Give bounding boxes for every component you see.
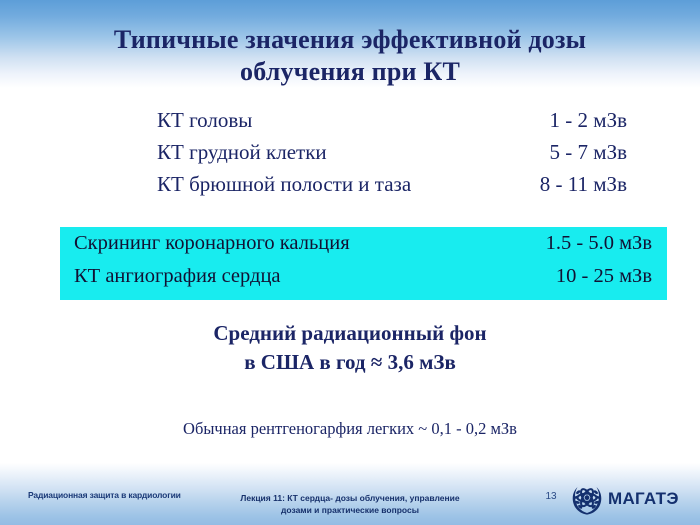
dose-value: 1 - 2 мЗв <box>550 108 627 133</box>
table-row: Скрининг коронарного кальция 1.5 - 5.0 м… <box>74 232 652 265</box>
emphasis-line-2: в США в год ≈ 3,6 мЗв <box>0 348 700 377</box>
iaea-atom-laurel-icon <box>570 482 604 516</box>
dose-list: КТ головы 1 - 2 мЗв КТ грудной клетки 5 … <box>157 108 627 204</box>
dose-label: КТ ангиография сердца <box>74 265 281 288</box>
page-number: 13 <box>540 491 562 502</box>
slide-canvas: Типичные значения эффективной дозы облуч… <box>0 0 700 525</box>
iaea-logo: МАГАТЭ <box>570 481 690 517</box>
dose-row: КТ грудной клетки 5 - 7 мЗв <box>157 140 627 172</box>
dose-label: КТ грудной клетки <box>157 140 327 165</box>
footer-course-label: Радиационная защита в кардиологии <box>28 490 181 500</box>
dose-value: 10 - 25 мЗв <box>556 265 652 288</box>
dose-label: КТ брюшной полости и таза <box>157 172 411 197</box>
dose-value: 5 - 7 мЗв <box>550 140 627 165</box>
dose-value: 1.5 - 5.0 мЗв <box>546 232 652 255</box>
dose-row: КТ брюшной полости и таза 8 - 11 мЗв <box>157 172 627 204</box>
dose-row: КТ головы 1 - 2 мЗв <box>157 108 627 140</box>
footnote-text: Обычная рентгеногарфия легких ~ 0,1 - 0,… <box>0 419 700 439</box>
dose-label: КТ головы <box>157 108 252 133</box>
slide-title-line-2: облучения при КТ <box>0 56 700 88</box>
highlight-dose-list: Скрининг коронарного кальция 1.5 - 5.0 м… <box>74 232 652 298</box>
slide-title-line-1: Типичные значения эффективной дозы <box>0 24 700 56</box>
footer-lecture-line-2: дозами и практические вопросы <box>281 505 419 515</box>
emphasis-line-1: Средний радиационный фон <box>0 319 700 348</box>
table-row: КТ ангиография сердца 10 - 25 мЗв <box>74 265 652 298</box>
footer-lecture-line-1: Лекция 11: КТ сердца- дозы облучения, уп… <box>240 493 459 503</box>
emphasis-block: Средний радиационный фон в США в год ≈ 3… <box>0 319 700 377</box>
slide-title: Типичные значения эффективной дозы облуч… <box>0 24 700 88</box>
dose-value: 8 - 11 мЗв <box>540 172 627 197</box>
iaea-logo-text: МАГАТЭ <box>608 482 679 516</box>
dose-label: Скрининг коронарного кальция <box>74 232 350 255</box>
footer-lecture-label: Лекция 11: КТ сердца- дозы облучения, уп… <box>170 492 530 516</box>
